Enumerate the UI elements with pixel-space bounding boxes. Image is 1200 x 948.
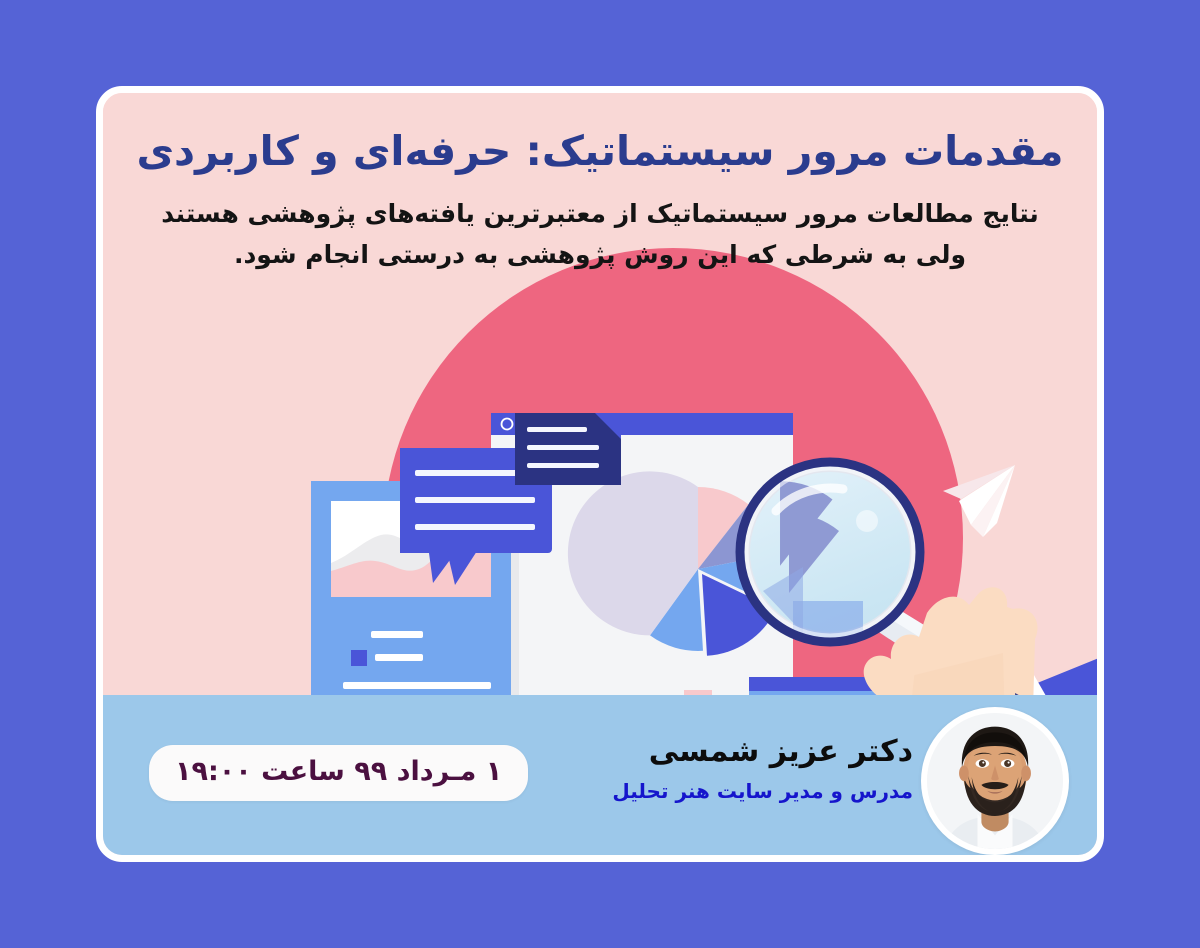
date-badge: ۱ مـرداد ۹۹ ساعت ۱۹:۰۰ xyxy=(149,745,528,801)
poster-card: مقدمات مرور سیستماتیک: حرفه‌ای و کاربردی… xyxy=(96,86,1104,862)
speaker-name: دکتر عزیز شمسی xyxy=(612,733,913,771)
date-badge-label: ۱ مـرداد ۹۹ ساعت ۱۹:۰۰ xyxy=(175,756,502,787)
headline-block: مقدمات مرور سیستماتیک: حرفه‌ای و کاربردی… xyxy=(103,125,1097,275)
speaker-block: دکتر عزیز شمسی مدرس و مدیر سایت هنر تحلی… xyxy=(612,733,913,803)
avatar xyxy=(921,707,1069,855)
speaker-role: مدرس و مدیر سایت هنر تحلیل xyxy=(612,779,913,803)
poster-subtitle: نتایج مطالعات مرور سیستماتیک از معتبرتری… xyxy=(129,194,1071,275)
poster-top-section: مقدمات مرور سیستماتیک: حرفه‌ای و کاربردی… xyxy=(103,93,1097,695)
poster-subtitle-line-2: ولی به شرطی که این روش پژوهشی به درستی ا… xyxy=(234,240,966,269)
magnifier-icon xyxy=(738,460,922,649)
page-title: مقدمات مرور سیستماتیک: حرفه‌ای و کاربردی xyxy=(129,125,1071,178)
avatar-photo xyxy=(927,713,1063,849)
poster-bottom-section: ۱ مـرداد ۹۹ ساعت ۱۹:۰۰ دکتر عزیز شمسی مد… xyxy=(103,695,1097,862)
poster-subtitle-line-1: نتایج مطالعات مرور سیستماتیک از معتبرتری… xyxy=(161,199,1039,228)
speech-bubble-navy xyxy=(515,413,621,485)
